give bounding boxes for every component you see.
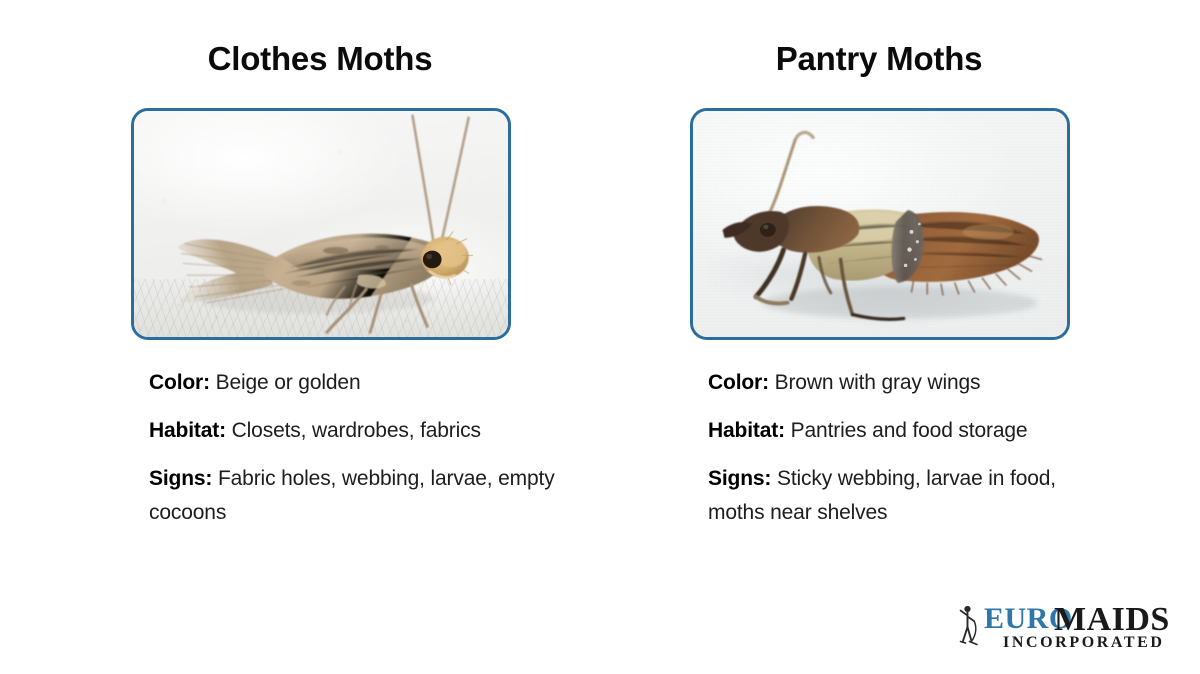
- fact-list-pantry-moths: Color: Brown with gray wings Habitat: Pa…: [708, 366, 1108, 530]
- fact-color: Color: Brown with gray wings: [708, 366, 1108, 400]
- fact-value: Closets, wardrobes, fabrics: [232, 419, 481, 442]
- fact-signs: Signs: Fabric holes, webbing, larvae, em…: [149, 462, 569, 530]
- fact-key: Color:: [149, 371, 210, 394]
- photo-pantry-moth: [693, 111, 1067, 337]
- page-title-pantry-moths: Pantry Moths: [629, 40, 1129, 78]
- photo-frame-pantry-moth: [690, 108, 1070, 340]
- clothes-moth-illustration: [134, 111, 508, 337]
- fact-color: Color: Beige or golden: [149, 366, 569, 400]
- fact-key: Signs:: [708, 467, 771, 490]
- fact-value: Pantries and food storage: [791, 419, 1028, 442]
- column-clothes-moths: Clothes Moths: [70, 0, 570, 674]
- fact-key: Color:: [708, 371, 769, 394]
- fact-signs: Signs: Sticky webbing, larvae in food, m…: [708, 462, 1108, 530]
- fact-list-clothes-moths: Color: Beige or golden Habitat: Closets,…: [149, 366, 569, 530]
- logo-tagline: INCORPORATED: [1003, 634, 1165, 651]
- column-pantry-moths: Pantry Moths: [629, 0, 1129, 674]
- fact-key: Habitat:: [149, 419, 226, 442]
- fact-value: Beige or golden: [216, 371, 361, 394]
- maid-with-vacuum-icon: [961, 606, 978, 645]
- fact-key: Habitat:: [708, 419, 785, 442]
- fact-key: Signs:: [149, 467, 212, 490]
- euromaids-logo-svg: EURO MAIDS INCORPORATED: [950, 600, 1198, 658]
- fact-habitat: Habitat: Closets, wardrobes, fabrics: [149, 414, 569, 448]
- fact-value: Brown with gray wings: [775, 371, 981, 394]
- fact-habitat: Habitat: Pantries and food storage: [708, 414, 1108, 448]
- logo-word-maids: MAIDS: [1054, 601, 1170, 638]
- photo-frame-clothes-moth: [131, 108, 511, 340]
- slide-canvas: Clothes Moths: [0, 0, 1200, 674]
- photo-clothes-moth: [134, 111, 508, 337]
- page-title-clothes-moths: Clothes Moths: [70, 40, 570, 78]
- brand-logo-euromaids: EURO MAIDS INCORPORATED: [950, 600, 1198, 658]
- pantry-moth-illustration: [693, 111, 1067, 337]
